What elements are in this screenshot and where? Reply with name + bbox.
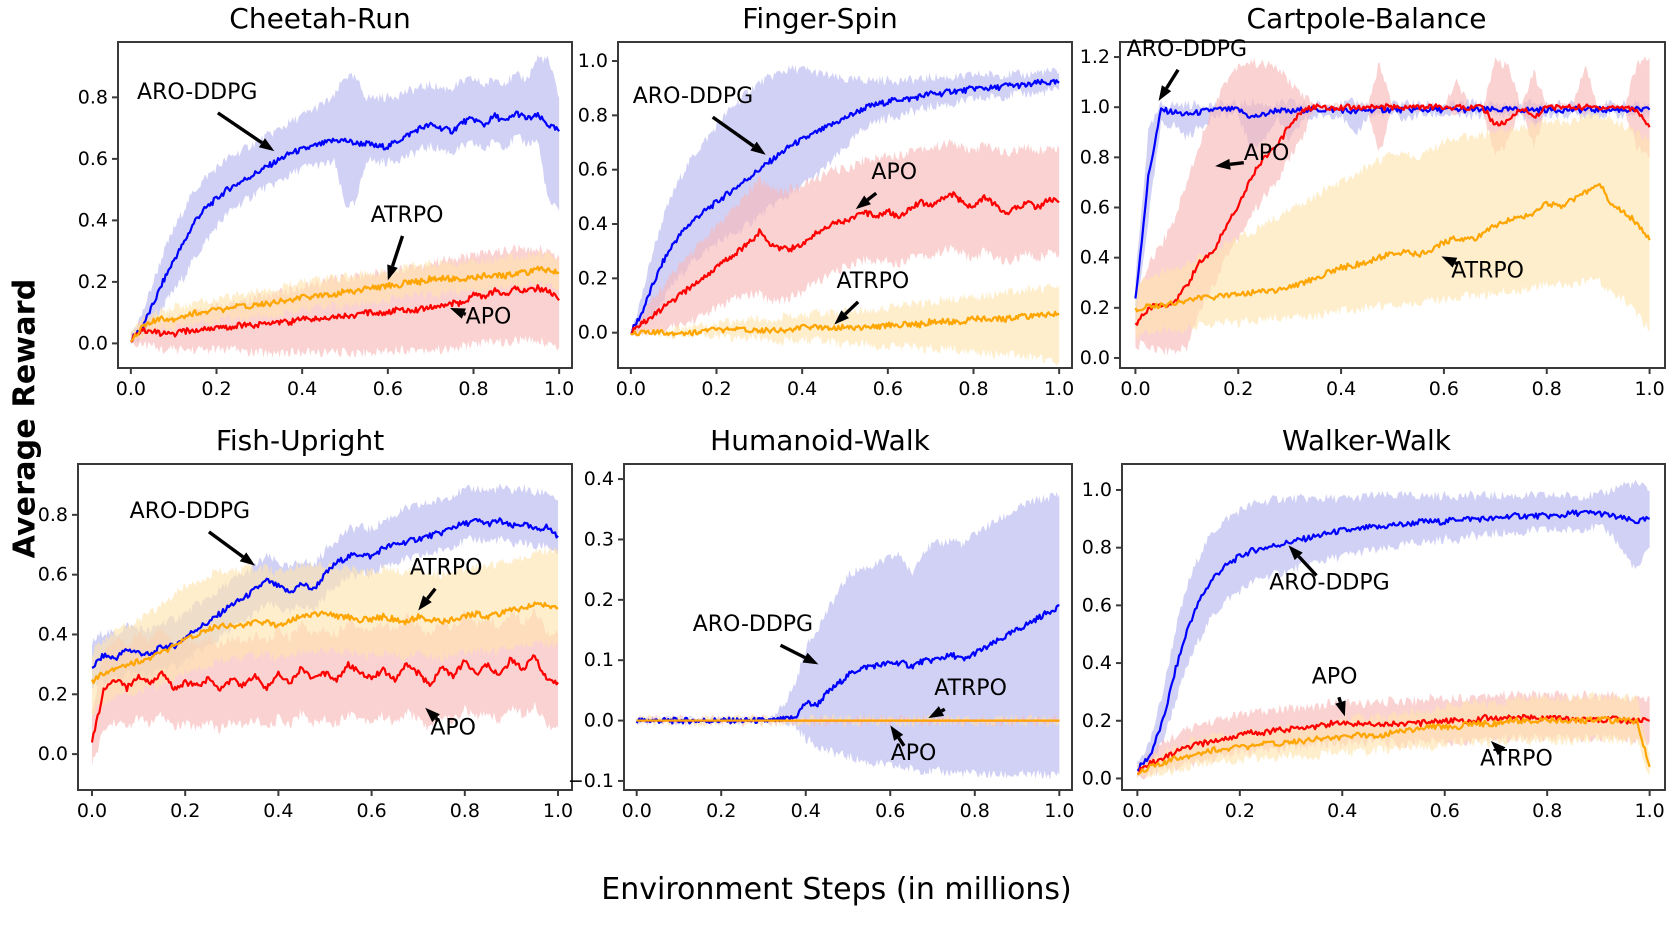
plot-area [1122,464,1665,790]
y-tick-label: 0.1 [584,649,614,671]
annotation-label-atrpo: ATRPO [410,556,483,581]
x-tick-label: 0.2 [170,800,200,822]
x-tick-label: 0.6 [1429,378,1459,400]
y-tick-label: 1.0 [578,50,608,72]
y-tick-label: 0.4 [1082,652,1112,674]
y-tick-label: 0.6 [1082,594,1112,616]
x-tick-label: 0.0 [77,800,107,822]
x-tick-label: 0.0 [616,378,646,400]
annotation-label-atrpo: ATRPO [371,203,444,228]
y-tick-label: 0.2 [1080,297,1110,319]
y-tick-label: 0.0 [1082,767,1112,789]
plot-area [624,464,1072,790]
y-tick-label: 0.8 [38,504,68,526]
annotation-arrow-shaft [1455,263,1457,264]
annotation-label-apo: APO [1244,141,1290,166]
y-tick-label: 0.4 [578,213,608,235]
x-tick-label: 0.8 [958,378,988,400]
y-tick-label: 0.4 [38,623,68,645]
y-tick-label: 0.8 [1080,146,1110,168]
panel-1: Finger-Spin 0.00.20.40.60.81.00.00.20.40… [560,2,1080,420]
y-tick-label: 0.6 [1080,197,1110,219]
x-tick-label: 0.0 [1122,800,1152,822]
annotation-label-aro-ddpg: ARO-DDPG [633,84,753,109]
y-tick-label: 0.8 [1082,537,1112,559]
x-tick-label: 0.8 [458,378,488,400]
annotation-label-aro-ddpg: ARO-DDPG [137,80,257,105]
y-tick-label: 1.2 [1080,46,1110,68]
y-tick-label: 0.6 [38,564,68,586]
x-tick-label: 0.6 [373,378,403,400]
y-tick-label: 0.0 [584,710,614,732]
plot-svg-2: 0.00.20.40.60.81.00.00.20.40.60.81.01.2A… [1060,36,1673,420]
x-axis-label: Environment Steps (in millions) [0,864,1673,914]
y-tick-label: 0.6 [78,148,108,170]
x-tick-label: 0.4 [787,378,817,400]
x-tick-label: 0.0 [1120,378,1150,400]
figure-root: Average Reward Cheetah-Run 0.00.20.40.60… [0,0,1673,936]
y-tick-label: 0.2 [578,267,608,289]
plot-svg-0: 0.00.20.40.60.81.00.00.20.40.60.8ARO-DDP… [60,36,580,420]
annotation-label-atrpo: ATRPO [1480,746,1553,771]
panel-title-5: Walker-Walk [1060,424,1673,458]
annotation-label-apo: APO [871,160,917,185]
annotation-label-apo: APO [1312,664,1358,689]
x-tick-label: 0.6 [356,800,386,822]
y-tick-label: 0.6 [578,159,608,181]
annotation-label-aro-ddpg: ARO-DDPG [1269,570,1389,595]
x-tick-label: 0.6 [875,800,905,822]
annotation-label-aro-ddpg: ARO-DDPG [693,612,813,637]
y-tick-label: 0.3 [584,528,614,550]
panel-title-3: Fish-Upright [20,424,580,458]
plot-svg-5: 0.00.20.40.60.81.00.00.20.40.60.81.0ARO-… [1060,458,1673,842]
x-tick-label: 0.4 [287,378,317,400]
y-tick-label: 1.0 [1082,479,1112,501]
x-tick-label: 0.4 [1327,800,1357,822]
annotation-label-apo: APO [466,304,512,329]
y-tick-label: 0.0 [578,322,608,344]
x-tick-label: 0.8 [1532,800,1562,822]
panel-3: Fish-Upright 0.00.20.40.60.81.00.00.20.4… [20,424,580,842]
y-tick-label: 0.2 [78,271,108,293]
plot-svg-4: 0.00.20.40.60.81.0−0.10.00.10.20.30.4ARO… [560,458,1080,842]
y-tick-label: 0.8 [78,86,108,108]
panel-title-0: Cheetah-Run [60,2,580,36]
panel-title-1: Finger-Spin [560,2,1080,36]
x-tick-label: 0.4 [1326,378,1356,400]
annotation-label-aro-ddpg: ARO-DDPG [130,499,250,524]
x-tick-label: 0.2 [701,378,731,400]
x-tick-label: 0.2 [1225,800,1255,822]
x-tick-label: 0.8 [960,800,990,822]
annotation-arrow-shaft [1339,697,1340,702]
panel-0: Cheetah-Run 0.00.20.40.60.81.00.00.20.40… [60,2,580,420]
y-tick-label: 0.0 [78,332,108,354]
y-tick-label: 0.4 [584,468,614,490]
panel-4: Humanoid-Walk 0.00.20.40.60.81.0−0.10.00… [560,424,1080,842]
annotation-label-atrpo: ATRPO [1451,259,1524,284]
x-tick-label: 0.2 [706,800,736,822]
x-axis-label-text: Environment Steps (in millions) [601,872,1071,907]
x-tick-label: 0.8 [1532,378,1562,400]
y-tick-label: 0.4 [78,209,108,231]
panel-5: Walker-Walk 0.00.20.40.60.81.00.00.20.40… [1060,424,1673,842]
plot-area [1120,42,1665,368]
x-tick-label: 1.0 [1634,378,1664,400]
annotation-label-atrpo: ATRPO [837,269,910,294]
y-tick-label: 0.4 [1080,247,1110,269]
y-tick-label: 0.2 [38,683,68,705]
plot-svg-1: 0.00.20.40.60.81.00.00.20.40.60.81.0ARO-… [560,36,1080,420]
annotation-label-aro-ddpg: ARO-DDPG [1127,37,1247,62]
y-tick-label: 1.0 [1080,96,1110,118]
x-tick-label: 0.6 [1430,800,1460,822]
x-tick-label: 0.2 [1223,378,1253,400]
plot-svg-3: 0.00.20.40.60.81.00.00.20.40.60.8ARO-DDP… [20,458,580,842]
panel-2: Cartpole-Balance 0.00.20.40.60.81.00.00.… [1060,2,1673,420]
y-tick-label: 0.0 [1080,347,1110,369]
annotation-arrow-shaft [1230,163,1244,165]
x-tick-label: 0.0 [622,800,652,822]
y-tick-label: 0.8 [578,104,608,126]
x-tick-label: 0.8 [450,800,480,822]
x-tick-label: 0.6 [873,378,903,400]
y-tick-label: 0.0 [38,743,68,765]
x-tick-label: 0.4 [791,800,821,822]
x-tick-label: 0.2 [201,378,231,400]
panel-title-2: Cartpole-Balance [1060,2,1673,36]
panel-title-4: Humanoid-Walk [560,424,1080,458]
annotation-label-apo: APO [891,741,937,766]
annotation-arrow-shaft [941,709,944,711]
x-tick-label: 0.0 [116,378,146,400]
x-tick-label: 1.0 [1635,800,1665,822]
y-tick-label: −0.1 [568,770,614,792]
annotation-arrow-shaft [436,718,439,721]
annotation-label-atrpo: ATRPO [934,676,1007,701]
y-tick-label: 0.2 [1082,710,1112,732]
y-tick-label: 0.2 [584,589,614,611]
annotation-arrow-shaft [464,314,466,315]
x-tick-label: 0.4 [263,800,293,822]
